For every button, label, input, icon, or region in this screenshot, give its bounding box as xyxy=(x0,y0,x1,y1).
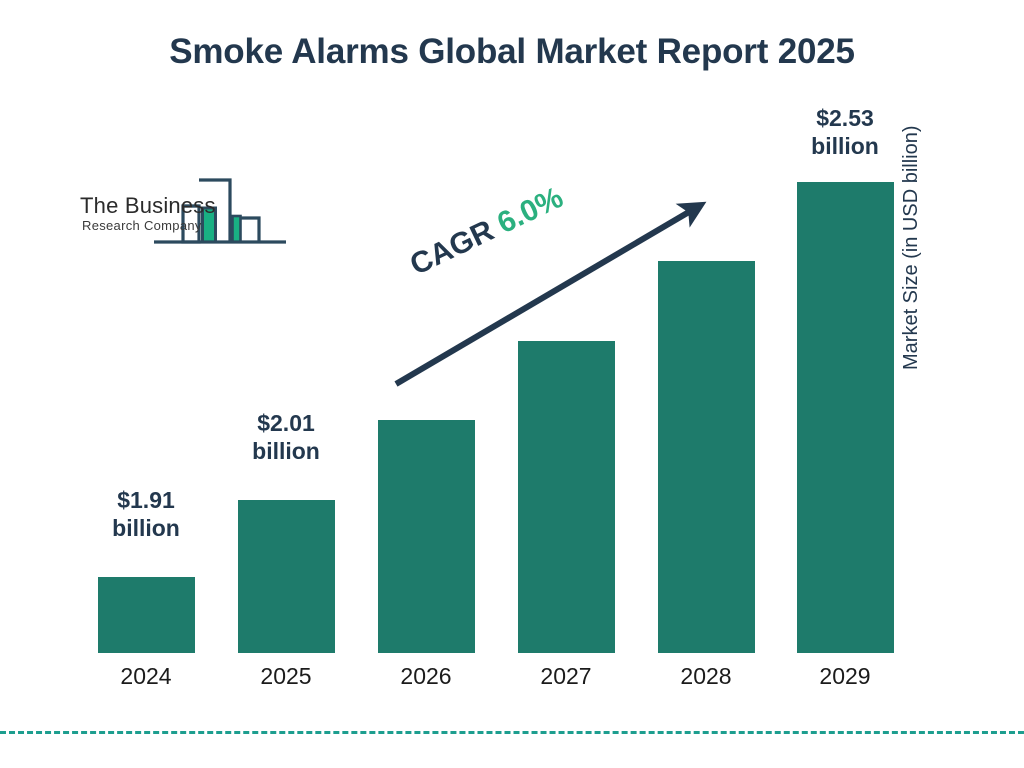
bar-2024 xyxy=(98,577,195,653)
bar-value-2029: $2.53 billion xyxy=(795,104,895,160)
bar-2027 xyxy=(518,341,615,653)
xtick-2024: 2024 xyxy=(96,663,196,690)
xtick-2028: 2028 xyxy=(656,663,756,690)
xtick-2029: 2029 xyxy=(795,663,895,690)
bar-value-2025-amount: $2.01 xyxy=(236,409,336,437)
cagr-value: 6.0% xyxy=(492,181,568,240)
xtick-2026: 2026 xyxy=(376,663,476,690)
bar-chart: $1.91 billion $2.01 billion $2.53 billio… xyxy=(0,0,1024,768)
bar-value-2029-amount: $2.53 xyxy=(795,104,895,132)
bar-value-2024-amount: $1.91 xyxy=(96,486,196,514)
bar-value-2025-unit: billion xyxy=(236,437,336,465)
bar-2025 xyxy=(238,500,335,653)
bar-2026 xyxy=(378,420,475,653)
cagr-label: CAGR xyxy=(405,214,499,282)
bar-value-2025: $2.01 billion xyxy=(236,409,336,465)
xtick-2025: 2025 xyxy=(236,663,336,690)
y-axis-label: Market Size (in USD billion) xyxy=(900,30,923,370)
bar-2028 xyxy=(658,261,755,653)
bar-value-2024: $1.91 billion xyxy=(96,486,196,542)
cagr-annotation: CAGR 6.0% xyxy=(405,181,569,283)
footer-divider xyxy=(0,731,1024,734)
bar-value-2024-unit: billion xyxy=(96,514,196,542)
xtick-2027: 2027 xyxy=(516,663,616,690)
bar-2029 xyxy=(797,182,894,653)
bar-value-2029-unit: billion xyxy=(795,132,895,160)
